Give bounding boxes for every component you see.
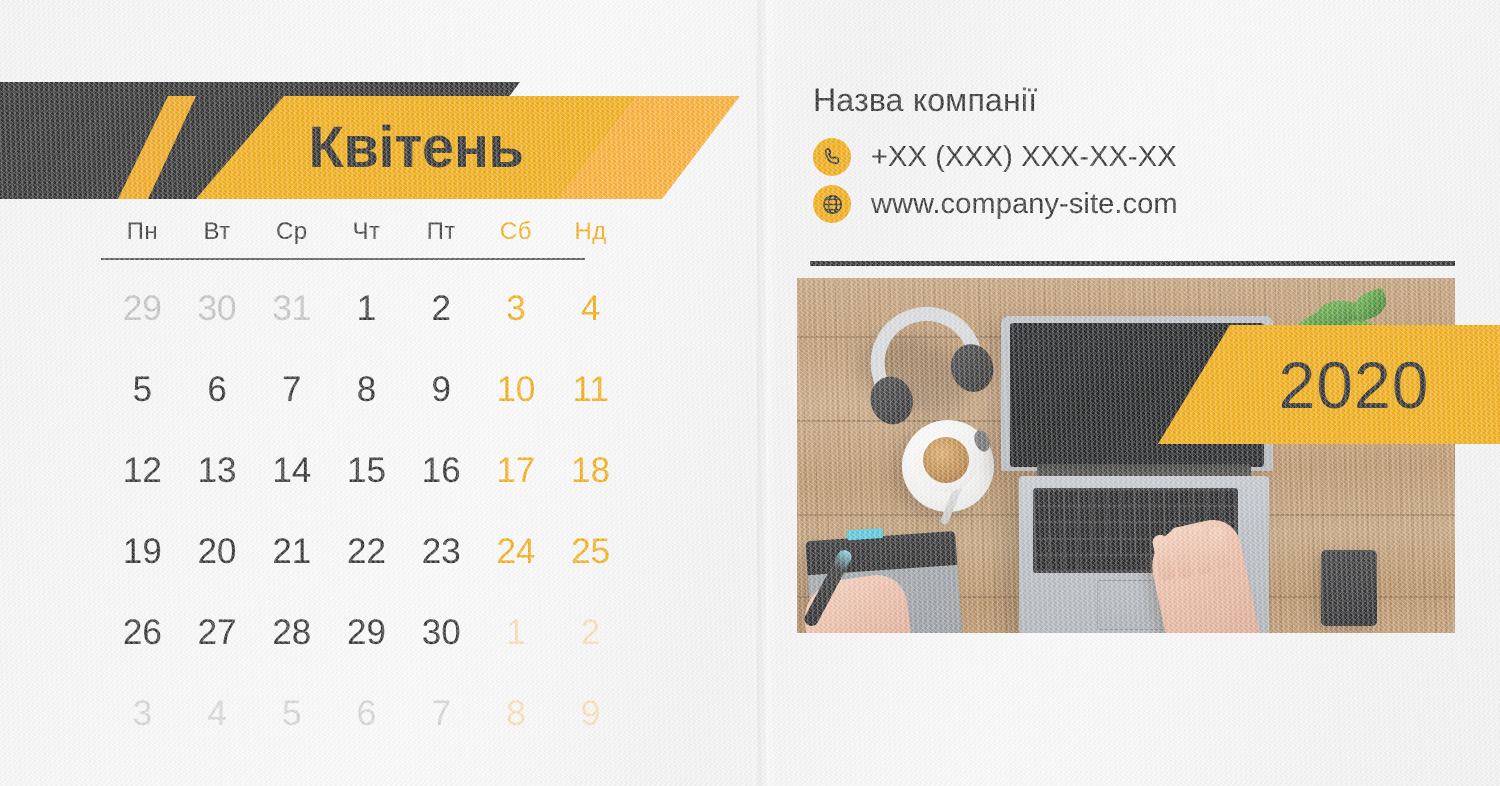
calendar-panel: Квітень ПнВтСрЧтПтСбНд 29303112345678910… [0,0,760,786]
day-cell[interactable]: 15 [329,430,404,511]
keyboard-key [1165,507,1177,521]
keyboard-key [1108,507,1120,521]
keyboard-key [1208,491,1220,505]
day-cell[interactable]: 6 [180,349,255,430]
day-cell[interactable]: 1 [479,592,554,673]
keyboard-key [1093,540,1105,554]
day-cell[interactable]: 7 [404,673,479,754]
weekday-label-1: Вт [180,218,255,246]
company-name: Назва компанії [813,82,1037,119]
keyboard-key [1065,523,1077,537]
day-cell[interactable]: 21 [254,511,329,592]
keyboard-key [1050,491,1062,505]
keyboard-key [1151,507,1163,521]
keyboard-key [1108,523,1120,537]
day-cell[interactable]: 9 [404,349,479,430]
keyboard-row [1036,491,1235,505]
keyboard-key [1108,491,1120,505]
day-cell[interactable]: 26 [105,592,180,673]
day-cell[interactable]: 30 [404,592,479,673]
info-divider [810,261,1455,266]
keyboard-key [1065,491,1077,505]
keyboard-key [1065,540,1077,554]
day-cell[interactable]: 4 [180,673,255,754]
day-cell[interactable]: 18 [553,430,628,511]
day-grid: 2930311234567891011121314151617181920212… [105,268,628,754]
keyboard-key [1050,523,1062,537]
keyboard-key [1194,507,1206,521]
day-cell[interactable]: 3 [479,268,554,349]
weekday-label-3: Чт [329,218,404,246]
keyboard-key [1079,507,1091,521]
keyboard-key [1223,507,1235,521]
keyboard-key [1108,540,1120,554]
keyboard-key [1180,491,1192,505]
day-cell[interactable]: 19 [105,511,180,592]
keyboard-key [1223,491,1235,505]
day-cell[interactable]: 30 [180,268,255,349]
keyboard-key [1050,507,1062,521]
keyboard-key [1050,540,1062,554]
day-cell[interactable]: 2 [404,268,479,349]
year-label: 2020 [1229,352,1430,418]
contact-row-phone[interactable]: +XX (XXX) XXX-XX-XX [813,138,1177,176]
keyboard-key [1036,523,1048,537]
keyboard-key [1122,507,1134,521]
day-cell[interactable]: 5 [105,349,180,430]
day-cell[interactable]: 5 [254,673,329,754]
day-cell[interactable]: 1 [329,268,404,349]
weekday-header-row: ПнВтСрЧтПтСбНд [105,218,628,246]
keyboard-key [1180,507,1192,521]
day-cell[interactable]: 29 [105,268,180,349]
keyboard-key [1122,540,1134,554]
info-panel: Назва компанії +XX (XXX) XXX-XX-XX www.c… [760,0,1500,786]
coffee-liquid [923,437,969,483]
keyboard-key [1194,491,1206,505]
keyboard-key [1136,507,1148,521]
weekday-label-6: Нд [553,218,628,246]
keyboard-key [1065,556,1077,570]
keyboard-key [1151,491,1163,505]
keyboard-key [1122,491,1134,505]
keyboard-key [1093,491,1105,505]
keyboard-key [1136,491,1148,505]
day-cell[interactable]: 25 [553,511,628,592]
month-banner: Квітень [0,82,740,199]
keyboard-key [1079,491,1091,505]
day-cell[interactable]: 24 [479,511,554,592]
day-cell[interactable]: 11 [553,349,628,430]
day-cell[interactable]: 4 [553,268,628,349]
day-cell[interactable]: 14 [254,430,329,511]
keyboard-row [1036,507,1235,521]
weekday-label-5: Сб [479,218,554,246]
day-cell[interactable]: 23 [404,511,479,592]
keyboard-key [1093,523,1105,537]
keyboard-key [1036,491,1048,505]
day-cell[interactable]: 16 [404,430,479,511]
day-cell[interactable]: 20 [180,511,255,592]
keyboard-key [1122,523,1134,537]
day-cell[interactable]: 22 [329,511,404,592]
day-cell[interactable]: 29 [329,592,404,673]
day-cell[interactable]: 10 [479,349,554,430]
day-cell[interactable]: 9 [553,673,628,754]
website-url: www.company-site.com [871,188,1178,221]
globe-icon [813,185,851,223]
month-title: Квітень [196,96,636,199]
contact-row-website[interactable]: www.company-site.com [813,185,1178,223]
day-cell[interactable]: 28 [254,592,329,673]
day-cell[interactable]: 13 [180,430,255,511]
day-cell[interactable]: 3 [105,673,180,754]
phone-number: +XX (XXX) XXX-XX-XX [871,141,1177,174]
keyboard-key [1079,556,1149,570]
calendar-page: Квітень ПнВтСрЧтПтСбНд 29303112345678910… [0,0,1500,786]
keyboard-key [1136,540,1148,554]
keyboard-key [1065,507,1077,521]
weekday-label-0: Пн [105,218,180,246]
keyboard-key [1079,540,1091,554]
keyboard-key [1036,556,1048,570]
keyboard-key [1036,540,1048,554]
keyboard-key [1093,507,1105,521]
keyboard-key [1165,491,1177,505]
day-cell[interactable]: 8 [479,673,554,754]
weekday-label-2: Ср [254,218,329,246]
day-cell[interactable]: 17 [479,430,554,511]
day-cell[interactable]: 7 [254,349,329,430]
day-cell[interactable]: 31 [254,268,329,349]
keyboard-key [1079,523,1091,537]
keyboard-key [1050,556,1062,570]
day-cell[interactable]: 27 [180,592,255,673]
weekday-divider [101,258,585,260]
day-cell[interactable]: 6 [329,673,404,754]
phone-icon [813,138,851,176]
keyboard-key [1036,507,1048,521]
day-cell[interactable]: 2 [553,592,628,673]
day-cell[interactable]: 12 [105,430,180,511]
weekday-label-4: Пт [404,218,479,246]
smartphone-object [1321,550,1377,626]
keyboard-key [1136,523,1148,537]
day-cell[interactable]: 8 [329,349,404,430]
